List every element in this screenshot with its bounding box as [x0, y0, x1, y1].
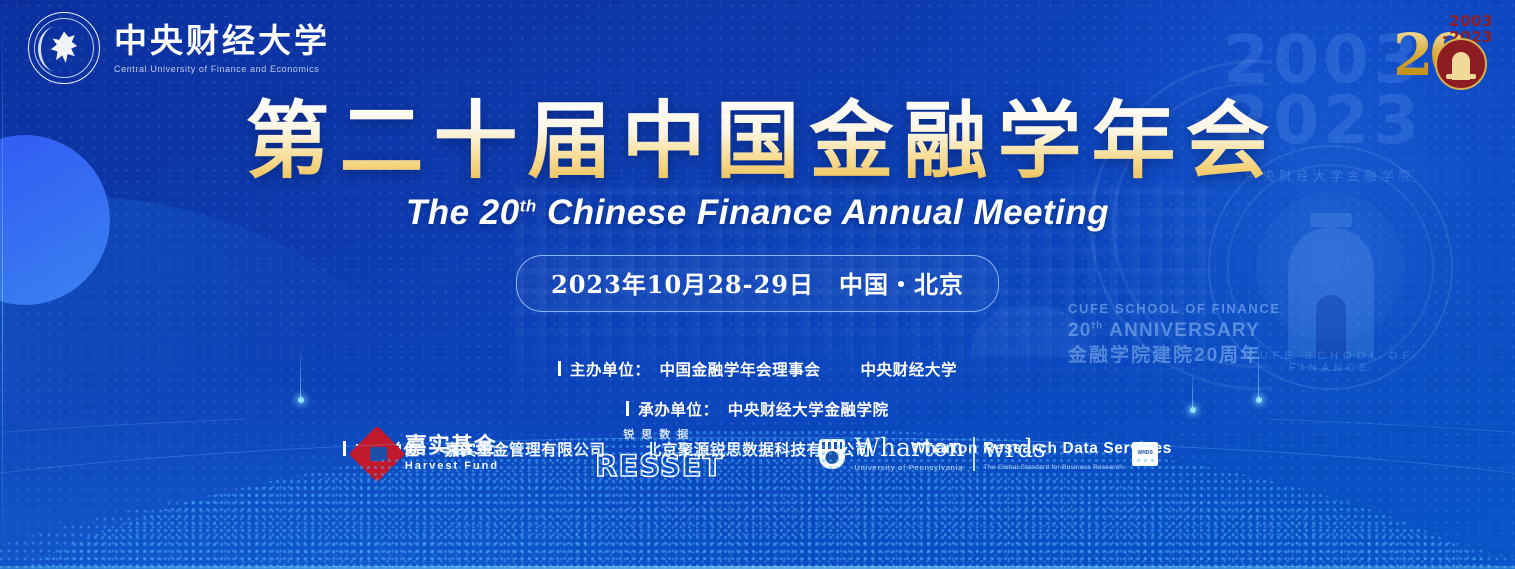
page-title: 第二十届中国金融学年会: [0, 96, 1515, 187]
organizer-value-1: 中央财经大学金融学院: [728, 398, 889, 420]
organizer-label: 承办单位：: [638, 398, 719, 420]
organizer-line-organizer: 承办单位： 中央财经大学金融学院: [0, 398, 1515, 420]
subtitle-ordinal: th: [520, 196, 537, 215]
bullet-bar-icon: [558, 361, 561, 376]
light-beam-3: [1192, 370, 1193, 410]
page-subtitle: The 20th Chinese Finance Annual Meeting: [0, 193, 1515, 233]
organizer-line-host: 主办单位： 中国金融学年会理事会 中央财经大学: [0, 358, 1515, 380]
subtitle-prefix: The 20: [406, 193, 520, 232]
subtitle-suffix: Chinese Finance Annual Meeting: [537, 193, 1109, 232]
light-beam-2: [1258, 338, 1259, 400]
conference-banner: 2003 -2023 中央财经大学金融学院 CUFE SCHOOL OF FIN…: [0, 0, 1515, 569]
banner-content: 第二十届中国金融学年会 The 20th Chinese Finance Ann…: [0, 0, 1515, 460]
bullet-bar-icon: [626, 401, 629, 416]
date-location-badge: 2023年10月28-29日 中国・北京: [516, 255, 999, 312]
wave-contour-line-2: [0, 419, 1515, 499]
light-beam-1: [300, 345, 301, 400]
wave-mesh-decoration: [0, 419, 1515, 569]
host-label: 主办单位：: [570, 358, 651, 380]
host-value-1: 中国金融学年会理事会: [659, 358, 820, 380]
host-value-2: 中央财经大学: [860, 358, 957, 380]
